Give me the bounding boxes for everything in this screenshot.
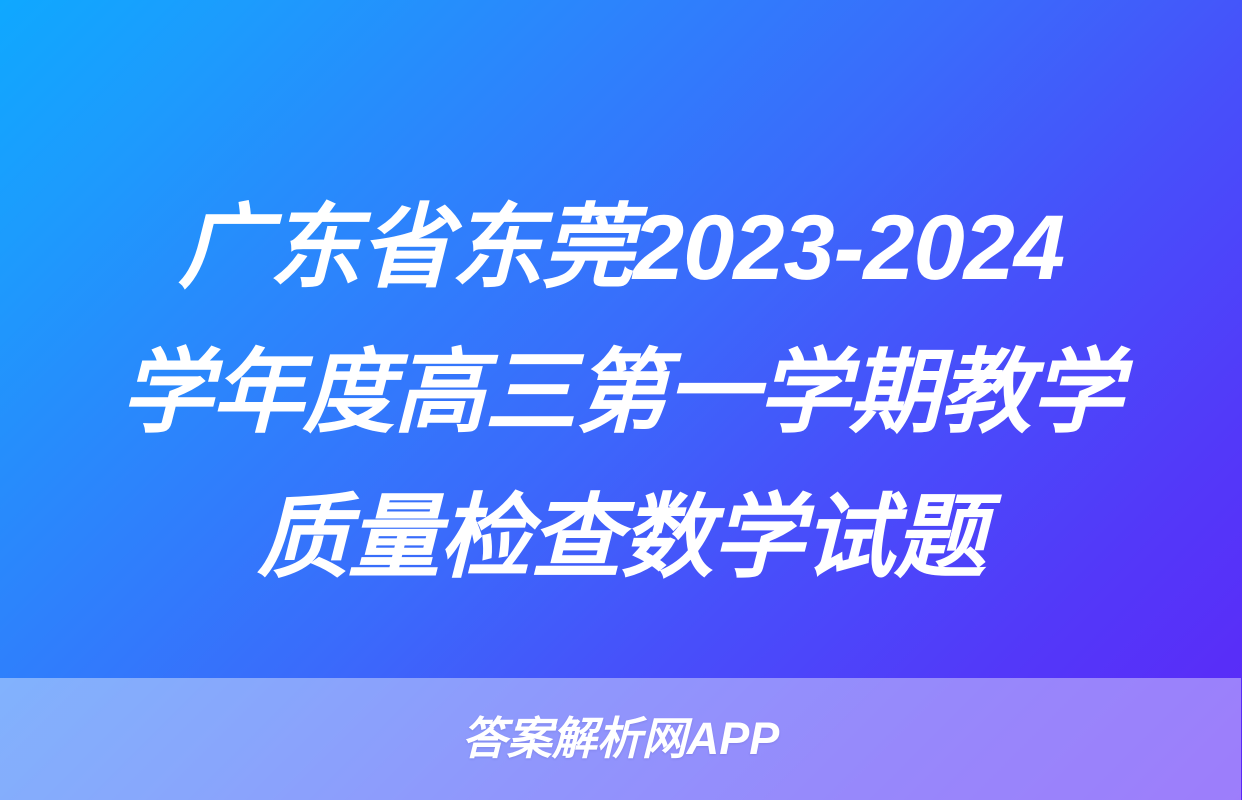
title-line-3: 质量检查数学试题 xyxy=(26,466,1216,611)
footer-watermark-band: 答案解析网APP xyxy=(0,678,1241,800)
title-line-1: 广东省东莞2023-2024 xyxy=(26,176,1216,321)
title-line-2: 学年度高三第一学期教学 xyxy=(26,321,1216,466)
poster-canvas: 广东省东莞2023-2024 学年度高三第一学期教学 质量检查数学试题 答案解析… xyxy=(0,0,1242,800)
watermark-label: 答案解析网APP xyxy=(462,714,780,764)
poster-title: 广东省东莞2023-2024 学年度高三第一学期教学 质量检查数学试题 xyxy=(0,176,1242,611)
